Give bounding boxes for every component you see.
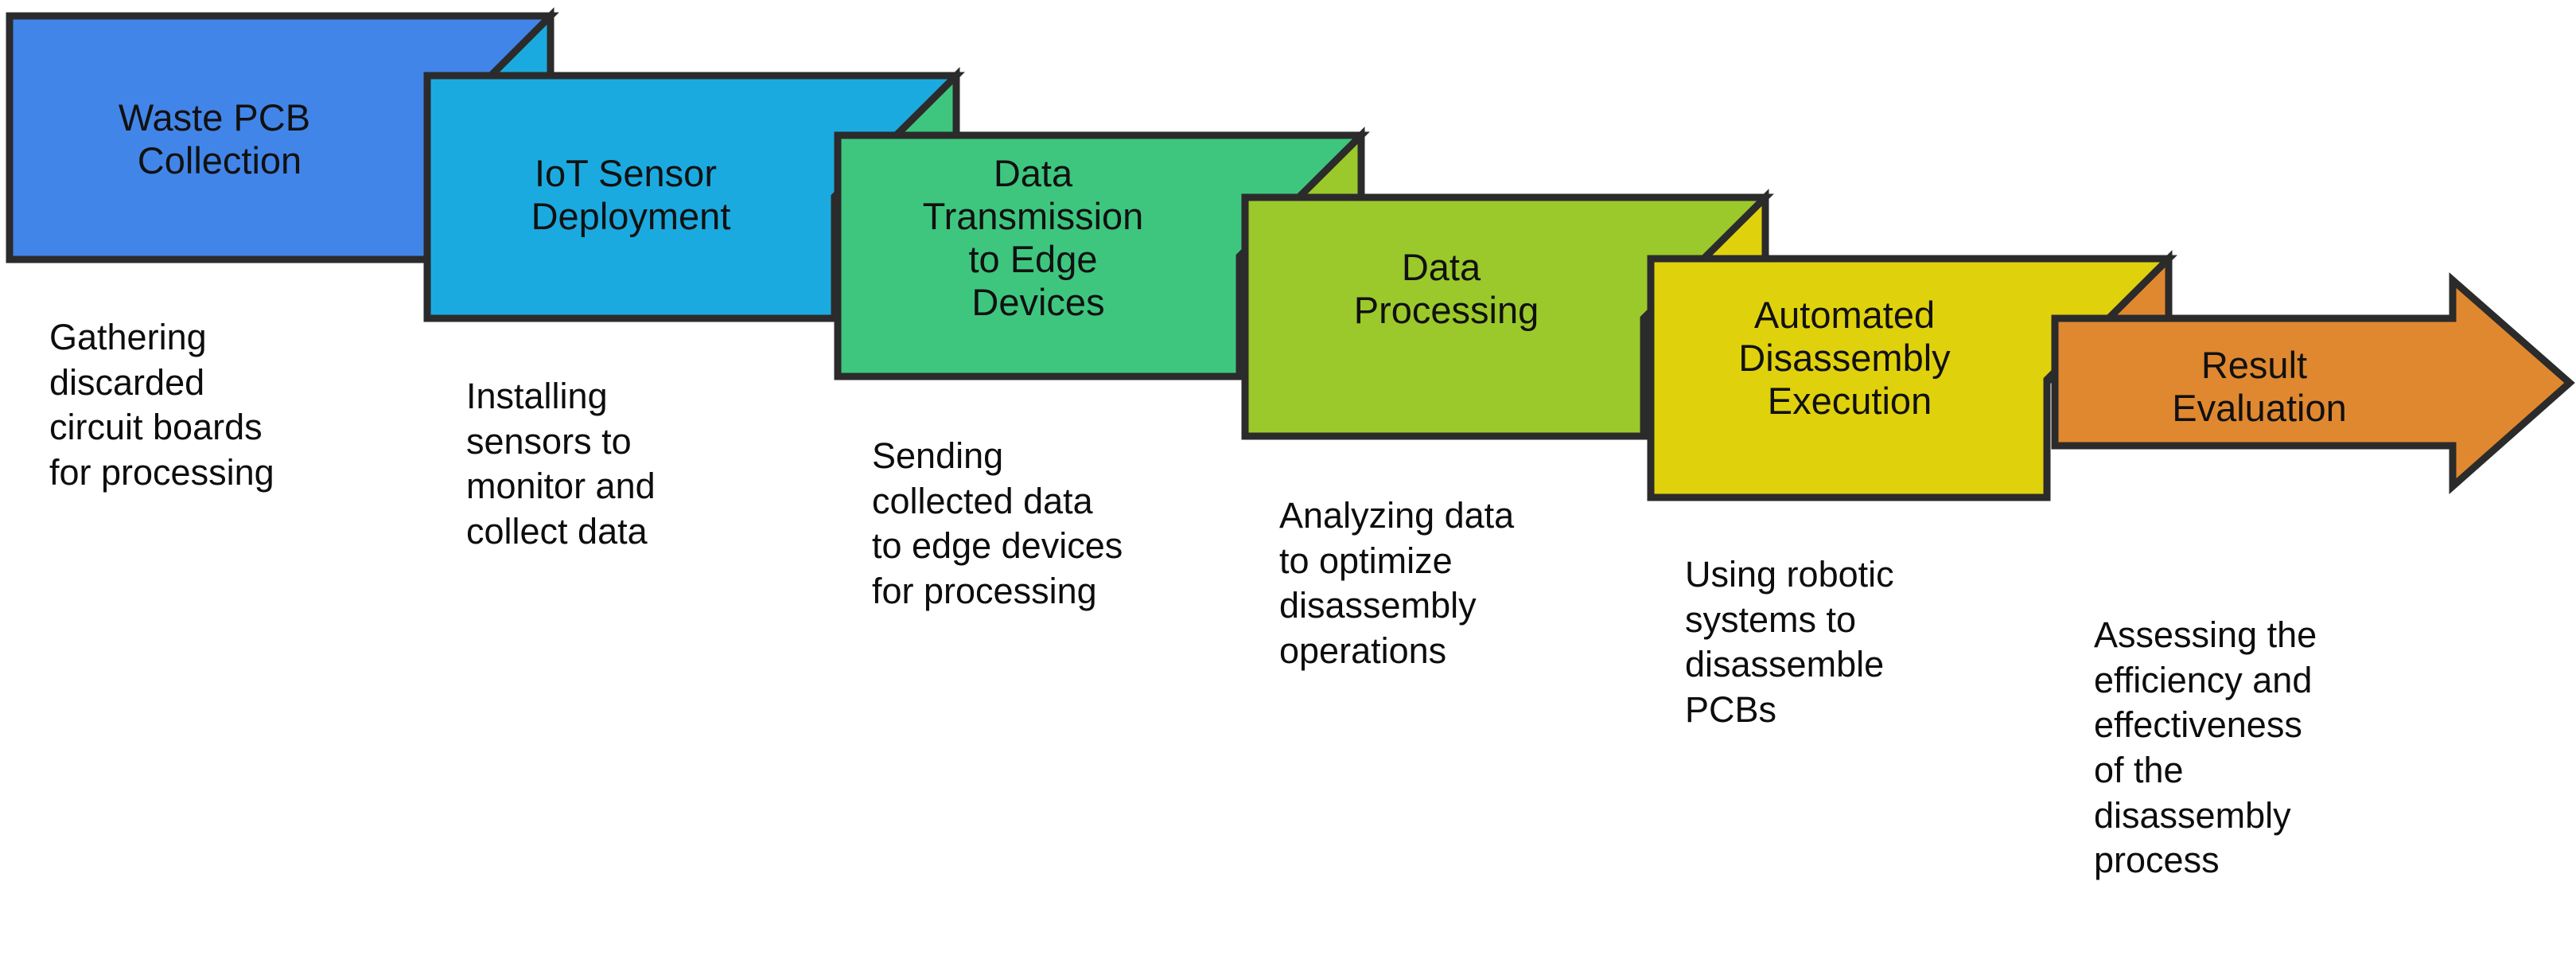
step-title-2: IoT Sensor Deployment bbox=[531, 152, 731, 237]
step-description-6: Assessing the efficiency and effectivene… bbox=[2094, 613, 2428, 883]
step-description-5: Using robotic systems to disassemble PCB… bbox=[1685, 552, 2035, 733]
step-description-1: Gathering discarded circuit boards for p… bbox=[49, 315, 391, 496]
step-title-1: Waste PCB Collection bbox=[119, 96, 321, 181]
step-description-3: Sending collected data to edge devices f… bbox=[872, 434, 1238, 614]
step-shape-6[interactable]: Result Evaluation bbox=[2055, 280, 2570, 557]
step-description-2: Installing sensors to monitor and collec… bbox=[466, 374, 808, 555]
step-description-4: Analyzing data to optimize disassembly o… bbox=[1279, 493, 1629, 674]
step-title-5: Automated Disassembly Execution bbox=[1738, 294, 1960, 422]
process-flow-diagram: Waste PCB Collection IoT Sensor Deployme… bbox=[0, 0, 2576, 971]
